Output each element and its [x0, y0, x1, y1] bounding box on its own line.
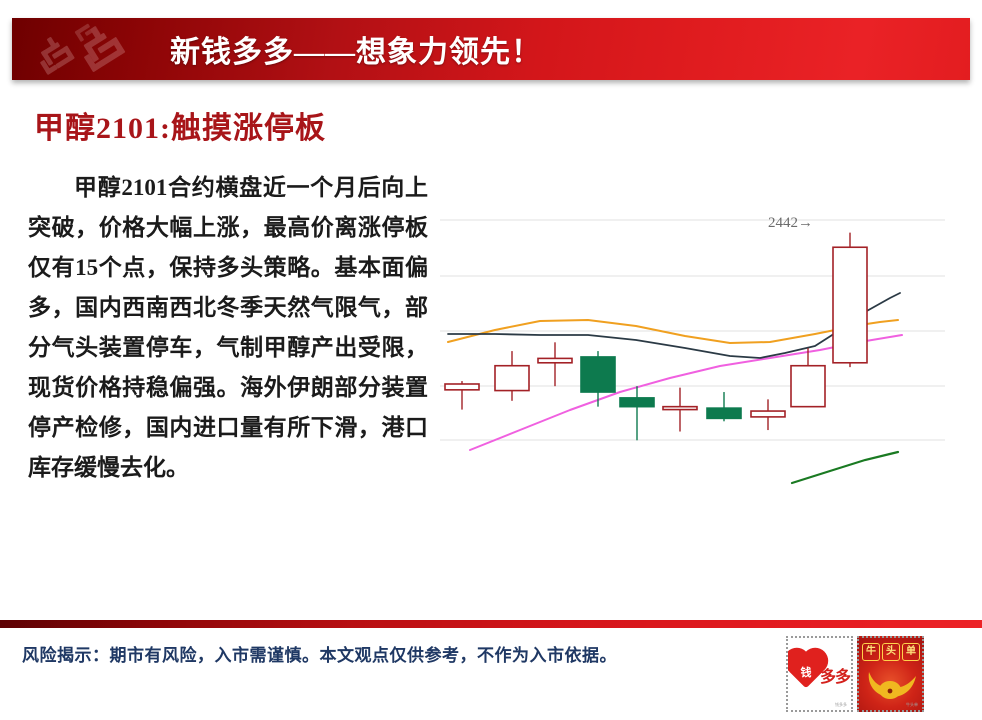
- niutoudan-char-0: 牛: [862, 643, 880, 661]
- candle-4: [620, 386, 654, 440]
- candle-body: [495, 366, 529, 391]
- qianduoduo-logo-stamp: 钱 多多 钱多多: [786, 636, 853, 712]
- candle-9: [833, 233, 867, 368]
- candle-body: [620, 398, 654, 407]
- candle-6: [707, 392, 741, 421]
- footer-logos: 钱 多多 钱多多 牛头单 牛头单: [786, 636, 924, 712]
- footer-divider: [0, 620, 982, 628]
- candlestick-chart: 2442→: [440, 190, 960, 510]
- bull-head-icon: [865, 666, 919, 704]
- header-title: 新钱多多——想象力领先！: [170, 27, 542, 71]
- qianduoduo-suffix: 多多: [820, 663, 850, 687]
- niutoudan-char-boxes: 牛头单: [862, 643, 920, 661]
- qianduoduo-heart-char: 钱: [795, 664, 817, 680]
- candle-2: [538, 342, 572, 386]
- candle-body: [833, 247, 867, 363]
- chart-volume-line: [792, 452, 898, 483]
- candle-body: [791, 366, 825, 407]
- page-title: 甲醇2101:触摸涨停板: [34, 103, 326, 147]
- candle-body: [445, 384, 479, 390]
- candle-1: [495, 351, 529, 401]
- volume-trend-line: [792, 452, 898, 483]
- candle-3: [581, 351, 615, 407]
- niutoudan-logo-stamp: 牛头单 牛头单: [857, 636, 924, 712]
- candle-8: [791, 348, 825, 407]
- candle-0: [445, 381, 479, 410]
- price-annotation-label: 2442→: [768, 215, 813, 231]
- candle-body: [663, 407, 697, 410]
- candle-body: [538, 358, 572, 362]
- risk-disclaimer: 风险揭示：期市有风险，入市需谨慎。本文观点仅供参考，不作为入市依据。: [22, 641, 617, 666]
- body-paragraph: 甲醇2101合约横盘近一个月后向上突破，价格大幅上涨，最高价离涨停板仅有15个点…: [28, 168, 428, 488]
- candle-body: [581, 357, 615, 392]
- qianduoduo-mini-text: 钱多多: [835, 702, 847, 708]
- niutoudan-char-1: 头: [882, 643, 900, 661]
- niutoudan-char-2: 单: [902, 643, 920, 661]
- chart-svg: 2442→: [440, 190, 960, 510]
- candle-5: [663, 388, 697, 432]
- chinese-knot-icon: [30, 20, 148, 80]
- header-banner: 新钱多多——想象力领先！: [12, 18, 970, 80]
- candle-body: [751, 411, 785, 417]
- candle-body: [707, 408, 741, 418]
- candle-7: [751, 399, 785, 430]
